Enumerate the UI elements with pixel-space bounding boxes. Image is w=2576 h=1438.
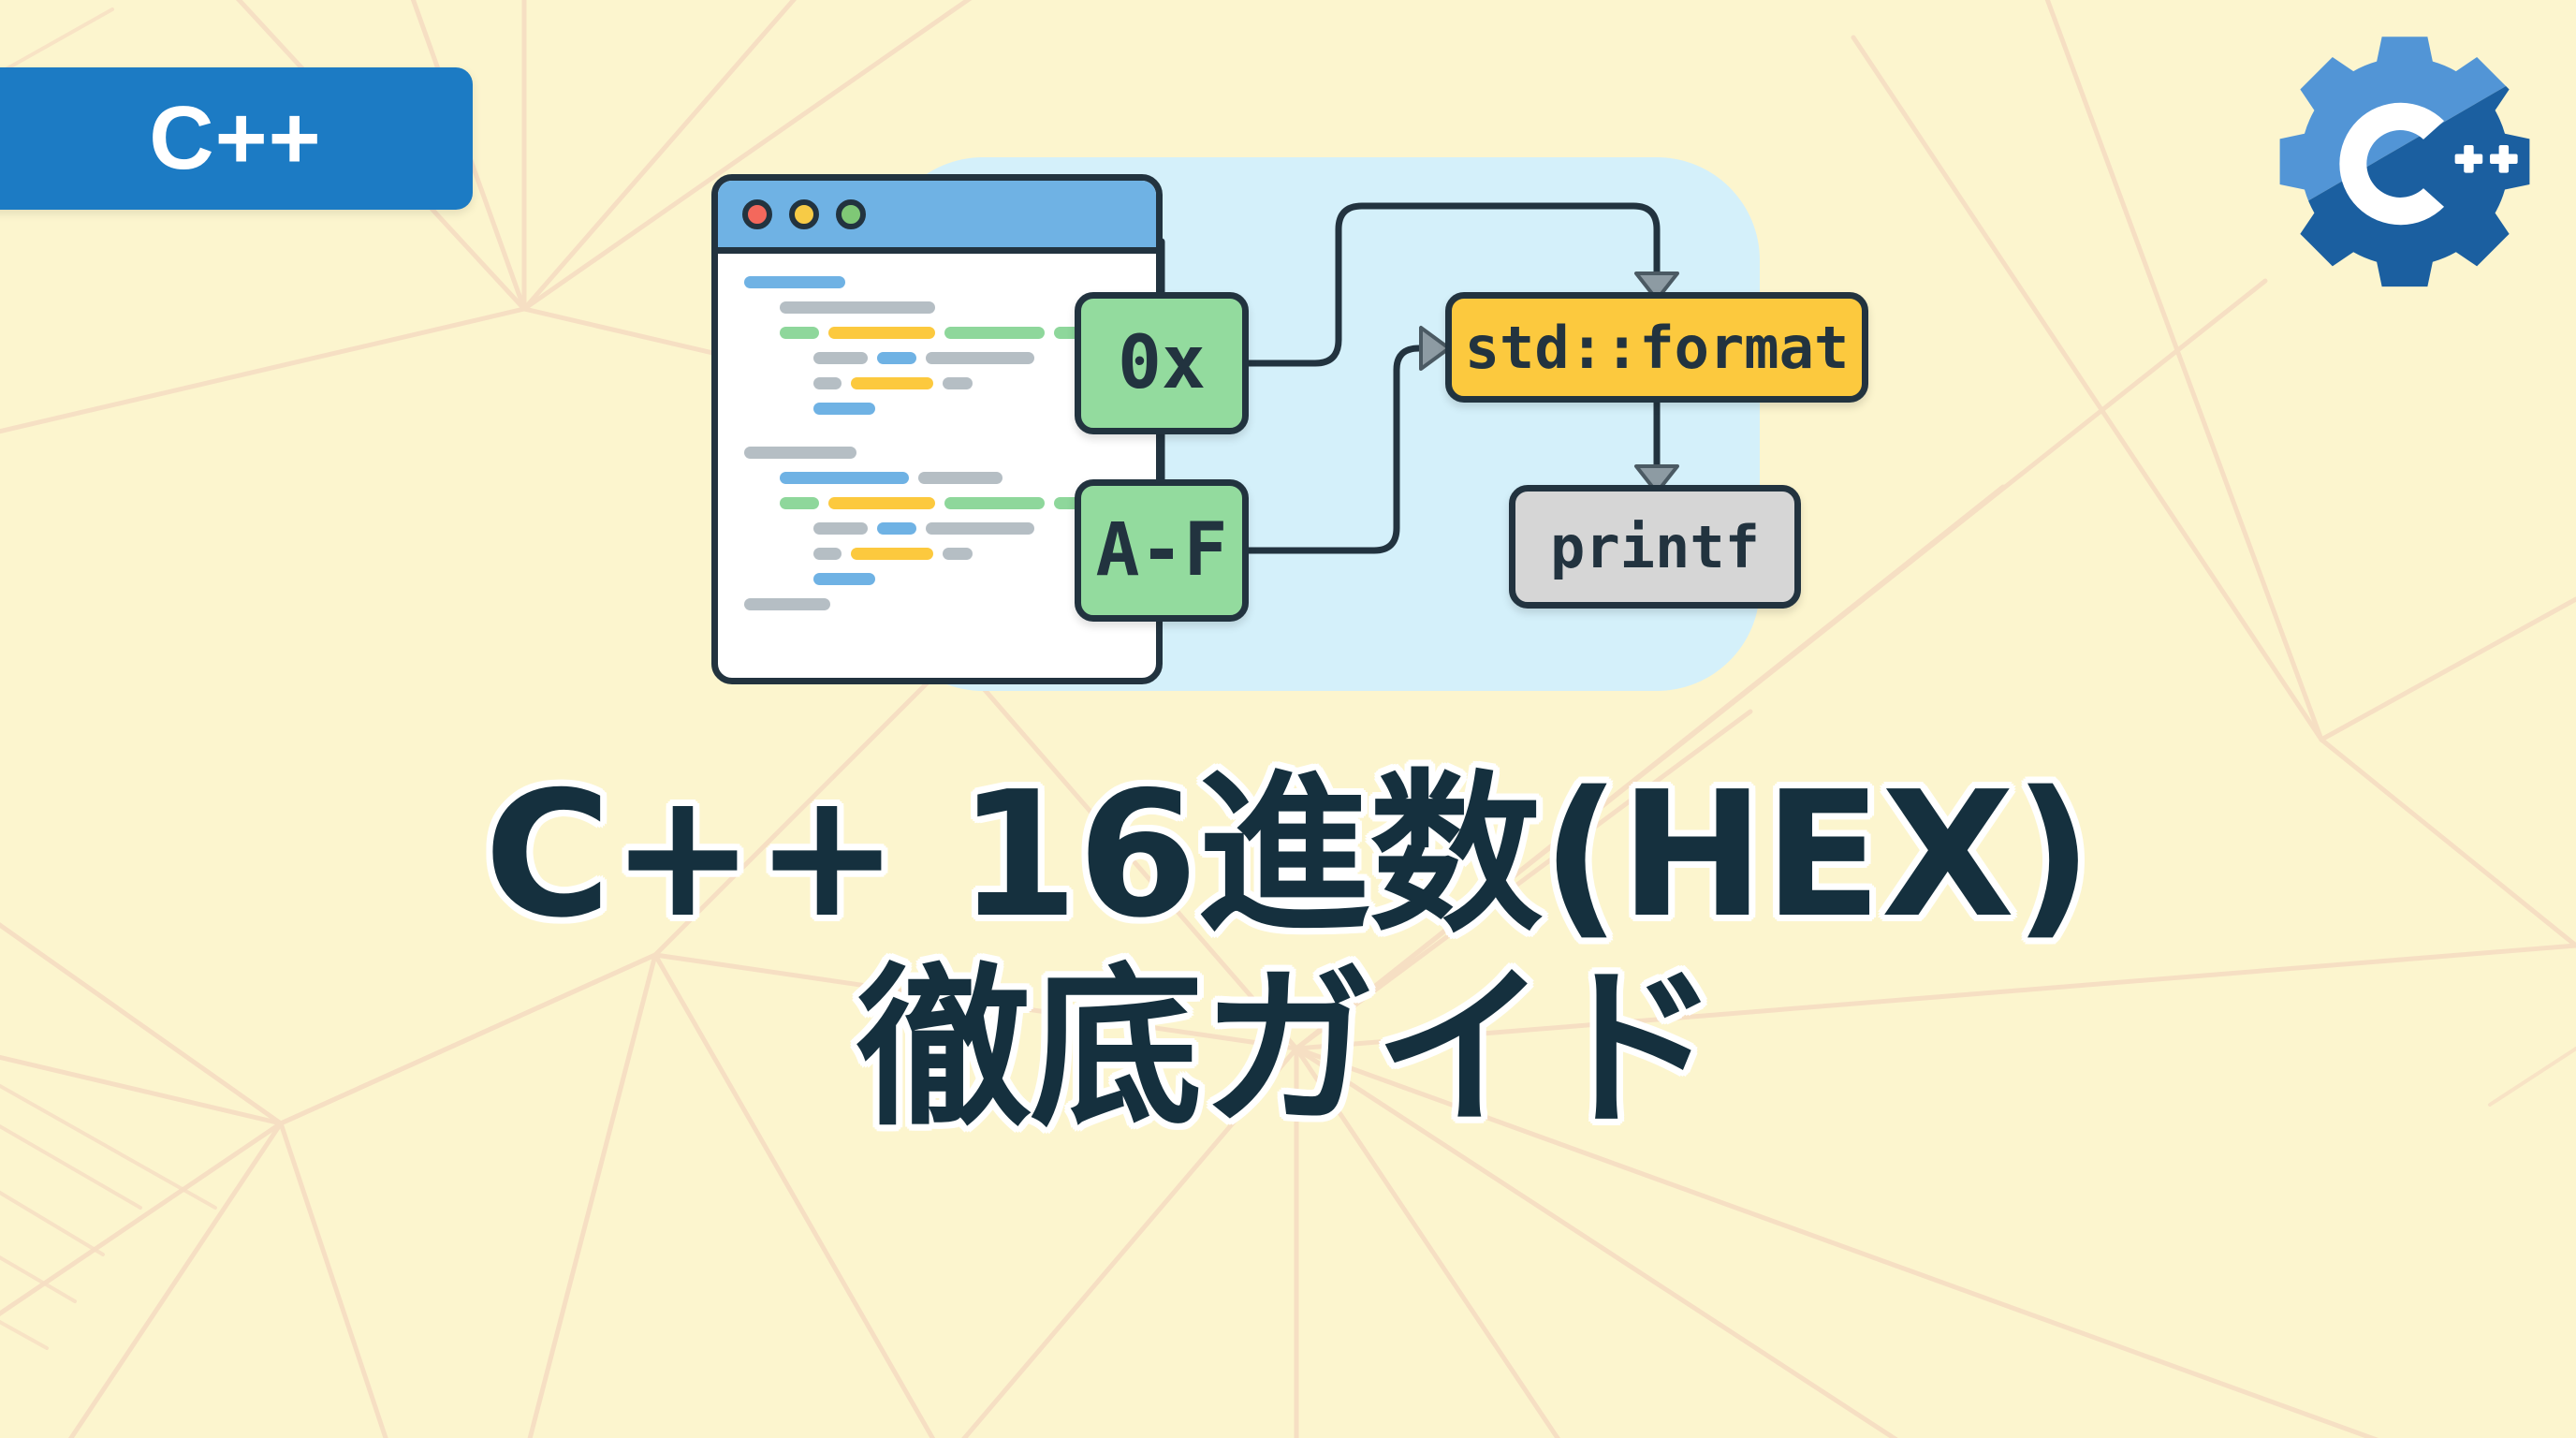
code-token [813, 403, 875, 415]
code-line [718, 327, 1156, 339]
node-hex-digits: A-F [1075, 479, 1249, 622]
code-line [718, 497, 1156, 509]
code-token [813, 573, 875, 585]
code-line [718, 472, 1156, 484]
node-printf: printf [1509, 485, 1801, 609]
cpp-badge: C++ [0, 67, 473, 210]
code-token [780, 497, 819, 509]
code-connector-stub-a-f [1054, 497, 1156, 509]
code-line [718, 447, 1156, 459]
code-token [877, 352, 916, 364]
code-line [718, 403, 1156, 415]
code-token [813, 352, 868, 364]
node-std-format-label: std::format [1465, 314, 1850, 382]
code-token [926, 352, 1034, 364]
code-token [813, 548, 842, 560]
edge-af-to-format [1249, 348, 1427, 550]
node-printf-label: printf [1550, 513, 1760, 581]
code-token [780, 472, 909, 484]
code-line [718, 548, 1156, 560]
code-line [718, 276, 1156, 288]
code-token [744, 598, 830, 610]
code-line [718, 352, 1156, 364]
code-token [943, 377, 973, 389]
code-token [813, 377, 842, 389]
code-lines-container [718, 254, 1156, 610]
title-line-2: 徹底ガイド [0, 952, 2576, 1146]
code-token [828, 327, 935, 339]
arrowhead-to-format-left [1421, 328, 1449, 369]
maximize-dot-icon[interactable] [836, 199, 866, 229]
code-line [718, 377, 1156, 389]
code-token [744, 276, 845, 288]
code-token [813, 522, 868, 535]
code-line [718, 301, 1156, 314]
code-line [718, 522, 1156, 535]
minimize-dot-icon[interactable] [789, 199, 819, 229]
illustration-blob-2 [824, 197, 1479, 665]
code-connector-stub-0x [1054, 327, 1156, 339]
thumbnail-canvas: C++ [0, 0, 2576, 1438]
code-token [780, 327, 819, 339]
code-token [918, 472, 1003, 484]
title-block: C++ 16進数(HEX) 徹底ガイド [0, 758, 2576, 1146]
node-std-format: std::format [1445, 292, 1868, 403]
node-hex-prefix-label: 0x [1118, 321, 1206, 405]
background-line-pattern [0, 0, 2576, 1438]
code-token [851, 377, 933, 389]
code-token [780, 301, 935, 314]
code-line [718, 598, 1156, 610]
code-token [744, 447, 856, 459]
arrowhead-to-printf [1636, 466, 1677, 492]
edge-0x-to-format [1249, 206, 1657, 363]
node-hex-prefix: 0x [1075, 292, 1249, 434]
code-token [944, 327, 1045, 339]
illustration-blob [880, 157, 1760, 691]
code-token [828, 497, 935, 509]
cpp-gear-logo-icon [2269, 28, 2540, 300]
code-token [926, 522, 1034, 535]
code-token [877, 522, 916, 535]
code-token [943, 548, 973, 560]
code-editor-window [711, 174, 1163, 684]
code-token [944, 497, 1045, 509]
window-title-bar [718, 181, 1156, 254]
node-hex-digits-label: A-F [1096, 508, 1228, 593]
cpp-badge-label: C++ [113, 94, 321, 183]
arrowhead-to-format-top [1636, 273, 1677, 300]
code-token [851, 548, 933, 560]
close-dot-icon[interactable] [742, 199, 772, 229]
title-line-1: C++ 16進数(HEX) [0, 758, 2576, 952]
code-line [718, 573, 1156, 585]
